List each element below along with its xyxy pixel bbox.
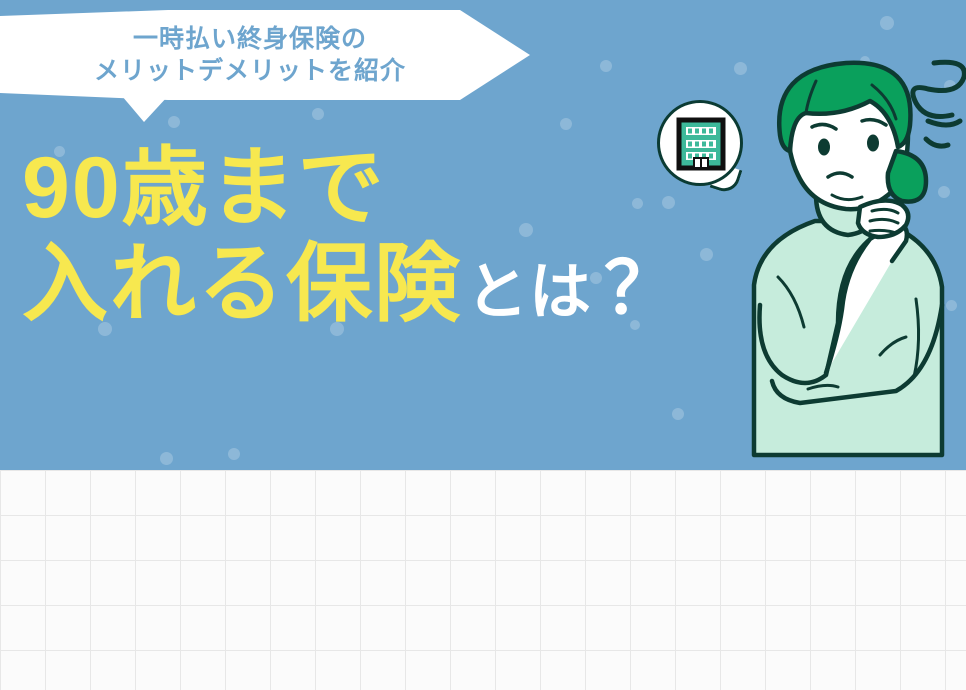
decorative-dot — [880, 16, 894, 30]
page-title: 90歳まで 入れる保険 とは ？ — [22, 140, 742, 333]
decorative-dot — [600, 60, 612, 72]
ribbon-line-1: 一時払い終身保険の — [133, 24, 367, 55]
summary-section: 徹底解説！ 90歳でも入れる保険「一時払い終身保険」の特徴 一時払い終身保険のメ… — [0, 470, 966, 690]
top-ribbon: 一時払い終身保険の メリットデメリットを紹介 — [0, 10, 545, 115]
decorative-dot — [160, 452, 173, 465]
headline-question-mark: ？ — [604, 253, 676, 325]
decorative-dot — [672, 408, 684, 420]
thinking-woman-illustration — [720, 55, 966, 470]
infographic-banner: 一時払い終身保険の メリットデメリットを紹介 90歳まで 入れる保険 とは ？ — [0, 0, 966, 690]
headline-row-1: 90歳まで — [22, 140, 742, 236]
decorative-dot — [560, 118, 572, 130]
decorative-dot — [168, 116, 180, 128]
hero-section: 一時払い終身保険の メリットデメリットを紹介 90歳まで 入れる保険 とは ？ — [0, 0, 966, 470]
headline-line2-yellow: 入れる保険 — [22, 236, 462, 332]
decorative-dot — [228, 448, 240, 460]
ribbon-text-block: 一時払い終身保険の メリットデメリットを紹介 — [0, 10, 500, 100]
ribbon-line-2: メリットデメリットを紹介 — [94, 56, 406, 87]
headline-line2-white: とは — [466, 262, 592, 324]
headline-row-2: 入れる保険 とは ？ — [22, 236, 742, 332]
headline-line1: 90歳まで — [22, 140, 386, 236]
